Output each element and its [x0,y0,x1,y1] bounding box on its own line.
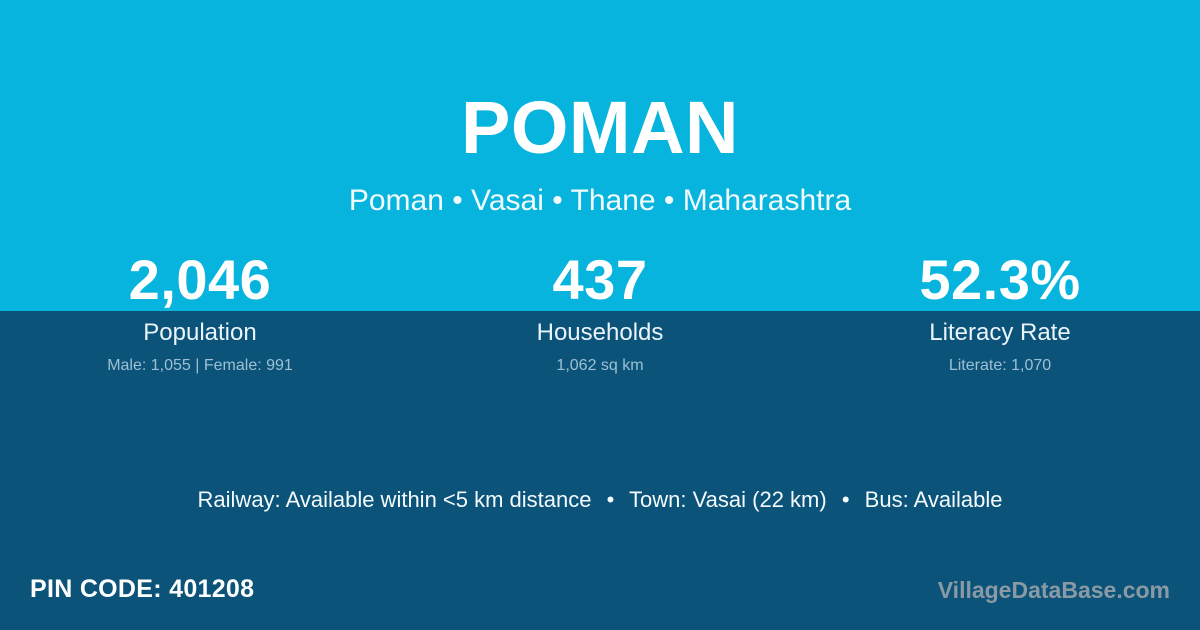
footer: PIN CODE: 401208 VillageDataBase.com [0,573,1200,621]
stat-households: 437 Households 1,062 sq km [400,248,800,376]
site-brand: VillageDataBase.com [938,575,1170,605]
breadcrumb: Poman • Vasai • Thane • Maharashtra [0,182,1200,220]
stats-row: 2,046 Population Male: 1,055 | Female: 9… [0,248,1200,376]
stat-households-label: Households [400,318,800,347]
village-info-card: POMAN Poman • Vasai • Thane • Maharashtr… [0,0,1200,630]
facility-town: Town: Vasai (22 km) [629,487,827,512]
facility-separator-icon: • [598,485,624,515]
pin-code: PIN CODE: 401208 [30,573,254,605]
page-title: POMAN [0,86,1200,170]
stat-literacy-rate: 52.3% Literacy Rate Literate: 1,070 [800,248,1200,376]
facility-railway: Railway: Available within <5 km distance [198,487,592,512]
facilities-line: Railway: Available within <5 km distance… [0,485,1200,515]
facility-bus: Bus: Available [865,487,1003,512]
facility-separator-icon: • [833,485,859,515]
stat-population-value: 2,046 [0,248,400,311]
stat-population: 2,046 Population Male: 1,055 | Female: 9… [0,248,400,376]
stat-literacy-rate-detail: Literate: 1,070 [800,356,1200,376]
stat-population-label: Population [0,318,400,347]
stat-literacy-rate-label: Literacy Rate [800,318,1200,347]
stat-households-value: 437 [400,248,800,311]
stat-literacy-rate-value: 52.3% [800,248,1200,311]
stat-population-detail: Male: 1,055 | Female: 991 [0,356,400,376]
stat-households-detail: 1,062 sq km [400,356,800,376]
